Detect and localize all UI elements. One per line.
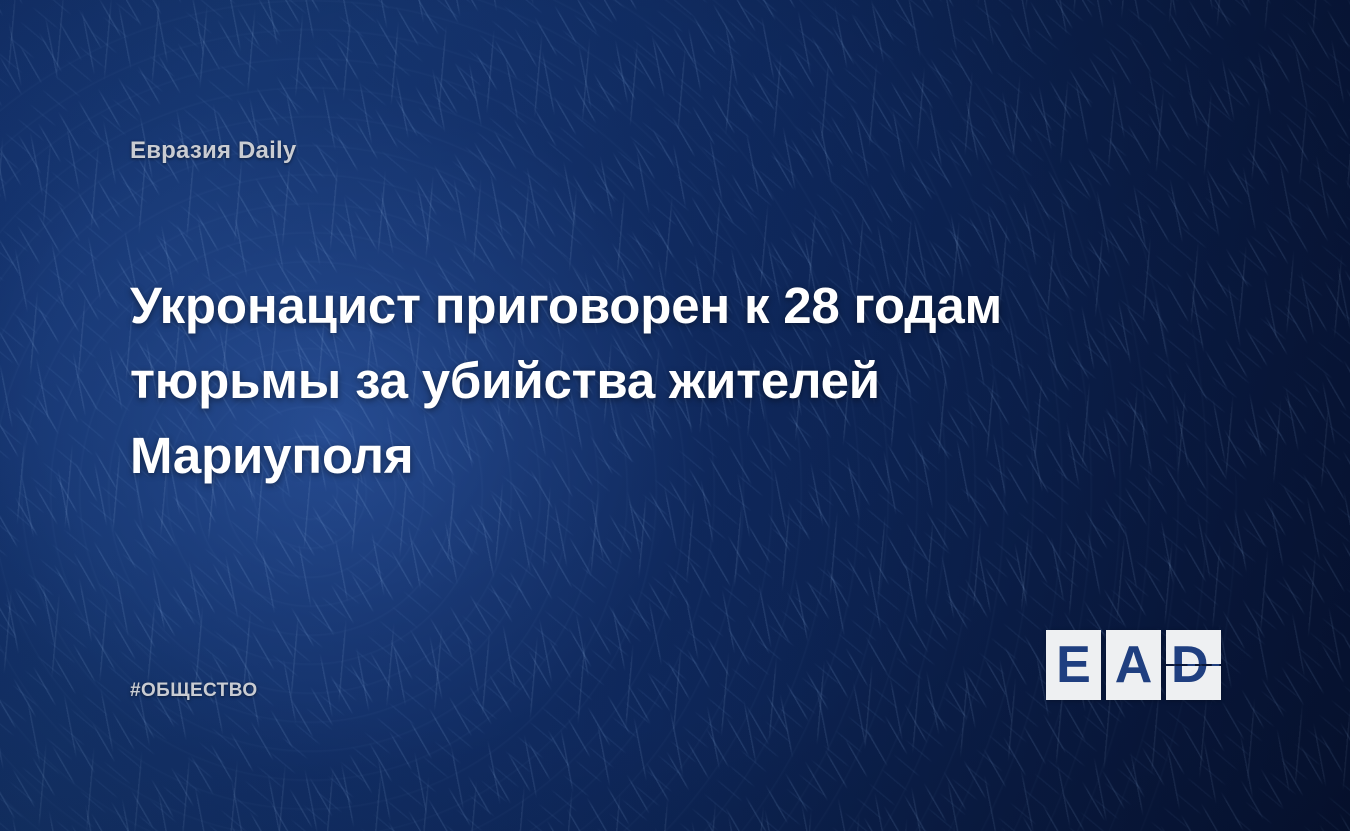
brand-name: Евразия Daily bbox=[130, 137, 296, 165]
logo-letter-d-lower: D bbox=[1171, 666, 1209, 700]
ead-logo: E A D D D bbox=[1046, 630, 1221, 700]
logo-letter-a: A bbox=[1115, 639, 1153, 691]
logo-letter-e: E bbox=[1056, 639, 1091, 691]
logo-tile-e: E bbox=[1046, 630, 1101, 700]
category-tag: #ОБЩЕСТВО bbox=[130, 680, 258, 702]
news-share-card: Евразия Daily Укронацист приговорен к 28… bbox=[0, 0, 1350, 831]
logo-tile-d-upper-half: D bbox=[1166, 630, 1221, 664]
logo-tile-a: A bbox=[1106, 630, 1161, 700]
card-content: Евразия Daily Укронацист приговорен к 28… bbox=[0, 0, 1350, 831]
logo-tile-d-lower-half: D bbox=[1166, 666, 1221, 700]
article-headline: Укронацист приговорен к 28 годам тюрьмы … bbox=[130, 268, 1090, 493]
logo-letter-d-upper: D bbox=[1171, 630, 1209, 664]
logo-tile-d: D D D bbox=[1166, 630, 1221, 700]
